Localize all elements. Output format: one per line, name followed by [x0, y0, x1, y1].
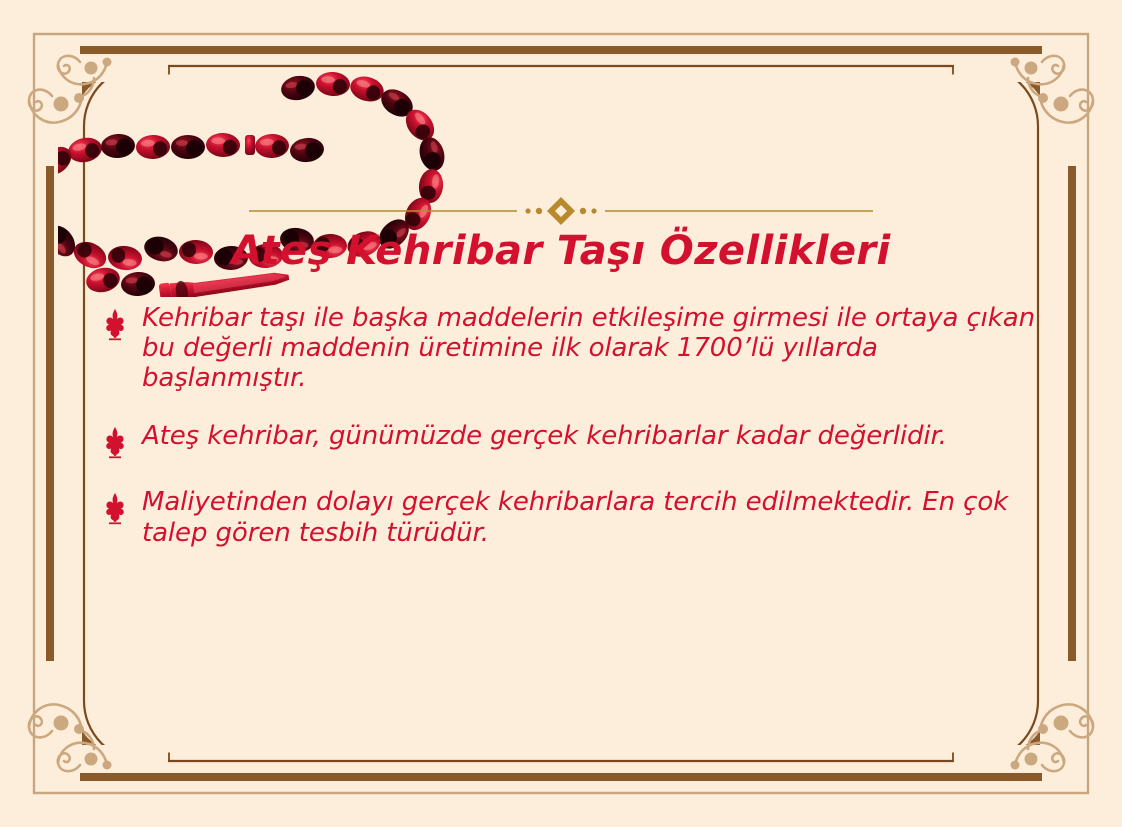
corner-ornament-bottom-right	[1011, 704, 1094, 771]
corner-ornament-top-right	[1011, 56, 1094, 123]
fleur-de-lis-bullet-icon	[100, 425, 130, 459]
list-item-text: Maliyetinden dolayı gerçek kehribarlara …	[142, 487, 1050, 547]
corner-ornament-bottom-left	[29, 704, 112, 771]
infographic-page: Ateş Kehribar Taşı Özellikleri Kehribar …	[0, 0, 1122, 827]
diamond-divider-ornament	[241, 196, 881, 226]
list-item-text: Ateş kehribar, günümüzde gerçek kehribar…	[142, 421, 1050, 451]
list-item-text: Kehribar taşı ile başka maddelerin etkil…	[142, 303, 1050, 393]
list-item: Ateş kehribar, günümüzde gerçek kehribar…	[100, 421, 1050, 459]
fleur-de-lis-bullet-icon	[100, 491, 130, 525]
fleur-de-lis-bullet-icon	[100, 307, 130, 341]
list-item: Maliyetinden dolayı gerçek kehribarlara …	[100, 487, 1050, 547]
page-title: Ateş Kehribar Taşı Özellikleri	[0, 230, 1122, 272]
feature-list: Kehribar taşı ile başka maddelerin etkil…	[100, 303, 1050, 548]
list-item: Kehribar taşı ile başka maddelerin etkil…	[100, 303, 1050, 393]
title-block: Ateş Kehribar Taşı Özellikleri	[0, 196, 1122, 268]
